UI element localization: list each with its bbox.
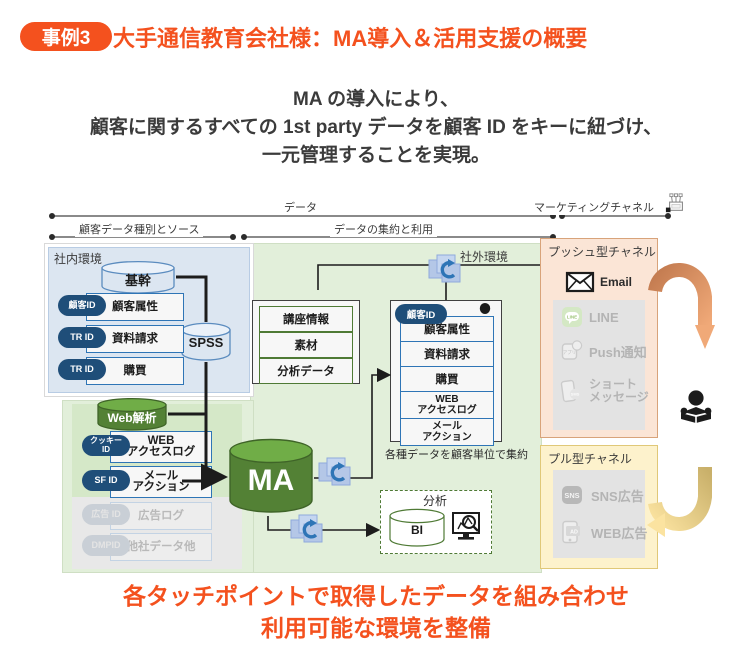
push-channel-sms-label: ショート メッセージ [589, 378, 649, 404]
line-icon: LINE [561, 306, 583, 328]
sync-icon-analysis [290, 512, 326, 548]
web-row-dmp: 他社データ他 DMPID [82, 533, 210, 559]
customer-item-2: 購買 [400, 366, 494, 392]
web-row-dmp-id: DMPID [82, 535, 130, 556]
pull-channel-sns-label: SNS広告 [591, 486, 644, 505]
case-badge: 事例3 [20, 22, 112, 51]
slide-root: 事例3 大手通信教育会社様：MA導入＆活用支援の概要 MA の導入により、 顧客… [0, 0, 752, 667]
subtitle-line-1: MA の導入により、 [0, 86, 752, 114]
web-row-ad: 広告ログ 広告 ID [82, 502, 210, 528]
bi-cylinder: BI [388, 508, 446, 548]
internal-environment-label: 社内環境 [54, 250, 102, 267]
push-channel-label: プッシュ型チャネル [548, 243, 656, 260]
svg-text:SNS: SNS [564, 491, 579, 500]
push-channel-sms-label-l2: メッセージ [589, 391, 649, 404]
pull-channel-web-ad[interactable]: AD WEB広告 [561, 520, 647, 544]
web-analytics-label: Web解析 [96, 409, 168, 426]
internal-row-0-id: 顧客ID [58, 295, 106, 316]
subtitle-block: MA の導入により、 顧客に関するすべての 1st party データを顧客 I… [0, 86, 752, 170]
ruler-aggregation-label: データの集約と利用 [330, 221, 437, 237]
internal-row-2-id: TR ID [58, 359, 106, 380]
page-title: 大手通信教育会社様：MA導入＆活用支援の概要 [113, 21, 587, 53]
footer-line-1: 各タッチポイントで取得したデータを組み合わせ [0, 580, 752, 612]
dashboard-search-icon [450, 510, 484, 544]
email-icon [566, 272, 594, 292]
push-channel-line-label: LINE [589, 310, 619, 325]
content-item-0: 講座情報 [259, 306, 353, 332]
web-row-ad-id: 広告 ID [82, 504, 130, 525]
push-channel-email-label: Email [600, 275, 632, 289]
web-row-cookie-id: クッキー ID [82, 435, 130, 456]
internal-row-0: 顧客属性 顧客ID [58, 293, 182, 319]
spss-label: SPSS [180, 335, 232, 350]
sns-icon: SNS [561, 484, 585, 506]
pull-channel-sns[interactable]: SNS SNS広告 [561, 484, 644, 506]
web-row-sf: メール アクション SF ID [82, 466, 210, 496]
subtitle-line-3: 一元管理することを実現。 [0, 142, 752, 170]
ruler-marketing-channel [560, 215, 670, 217]
core-system-label: 基幹 [100, 270, 176, 289]
aggregation-note: 各種データを顧客単位で集約 [385, 446, 528, 462]
web-row-sf-name-l2: アクション [133, 482, 190, 493]
pull-channel-web-ad-label: WEB広告 [591, 523, 647, 542]
internal-row-1-id: TR ID [58, 327, 106, 348]
pull-channel-label: プル型チャネル [548, 450, 632, 467]
content-item-1: 素材 [259, 332, 353, 358]
person-reading-icon [676, 388, 716, 428]
ma-label: MA [228, 464, 314, 498]
ma-cylinder: MA [228, 438, 314, 516]
spss-cylinder: SPSS [180, 322, 232, 362]
app-push-icon: アプリ [561, 340, 583, 362]
push-channel-email[interactable]: Email [566, 272, 632, 292]
customer-item-4-l2: アクション [422, 432, 472, 443]
core-system-cylinder: 基幹 [100, 261, 176, 293]
content-item-2: 分析データ [259, 358, 353, 384]
ruler-data-label: データ [280, 199, 321, 215]
svg-text:LINE: LINE [567, 315, 577, 320]
ruler-marketing-channel-label: マーケティングチャネル [530, 199, 658, 215]
push-channel-app-push[interactable]: アプリ Push通知 [561, 340, 647, 362]
web-analytics-cylinder: Web解析 [96, 398, 168, 430]
sms-icon: SMS [561, 379, 583, 403]
footer-block: 各タッチポイントで取得したデータを組み合わせ 利用可能な環境を整備 [0, 580, 752, 644]
svg-text:AD: AD [570, 529, 578, 535]
push-channel-app-push-label: Push通知 [589, 342, 647, 361]
footer-line-2: 利用可能な環境を整備 [0, 612, 752, 644]
customer-item-1: 資料請求 [400, 341, 494, 367]
internal-row-1: 資料請求 TR ID [58, 325, 182, 351]
customer-item-3-l2: アクセスログ [417, 405, 477, 416]
analysis-label: 分析 [380, 492, 490, 509]
customer-item-3-l1: WEB [435, 394, 458, 405]
sync-icon-top [428, 252, 464, 288]
web-row-cookie-id-l2: ID [102, 446, 110, 455]
ruler-data [50, 215, 555, 217]
customer-item-4: メール アクション [400, 418, 494, 446]
customer-item-3: WEB アクセスログ [400, 391, 494, 419]
web-row-cookie: WEB アクセスログ クッキー ID [82, 431, 210, 461]
subtitle-line-2: 顧客に関するすべての 1st party データを顧客 ID をキーに紐づけ、 [0, 114, 752, 142]
web-row-sf-id: SF ID [82, 470, 130, 491]
customer-item-4-l1: メール [432, 421, 462, 432]
bi-label: BI [388, 523, 446, 537]
ruler-source-label: 顧客データ種別とソース [75, 221, 203, 237]
slide-header: 事例3 大手通信教育会社様：MA導入＆活用支援の概要 [0, 8, 752, 56]
svg-text:SMS: SMS [571, 392, 580, 397]
push-channel-line[interactable]: LINE LINE [561, 306, 619, 328]
sync-icon-customer [318, 455, 354, 491]
web-ad-icon: AD [561, 520, 585, 544]
internal-row-2: 購買 TR ID [58, 357, 182, 383]
customer-id-badge: 顧客ID [395, 304, 447, 324]
external-environment-label: 社外環境 [460, 248, 508, 265]
broadcast-icon [665, 192, 687, 214]
push-channel-sms[interactable]: SMS ショート メッセージ [561, 378, 649, 404]
web-row-cookie-name-l2: アクセスログ [127, 447, 195, 458]
